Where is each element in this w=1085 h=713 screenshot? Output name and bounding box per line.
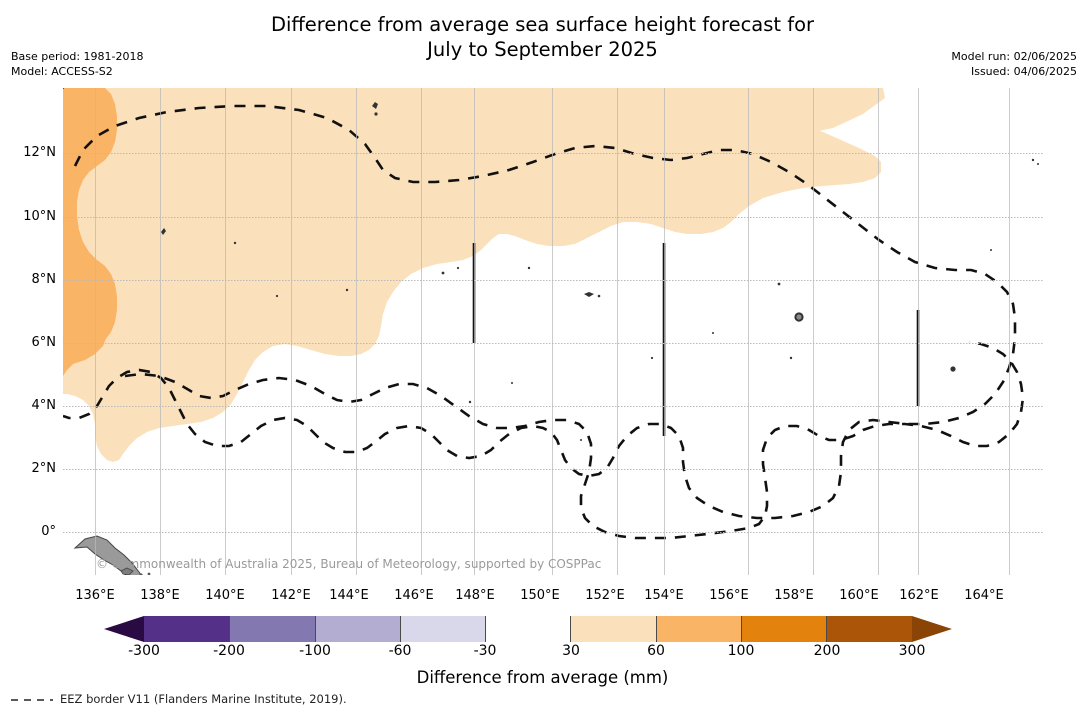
gridline-v-136e (95, 88, 96, 575)
x-tick-160e: 160°E (824, 588, 894, 603)
eez-border-line-south (125, 342, 1023, 538)
gridline-h-10n (63, 217, 1043, 218)
gridline-h-0 (63, 532, 1043, 533)
colorbar: -300 -200 -100 -60 -30 30 60 100 200 300 (104, 616, 952, 642)
base-period-text: Base period: 1981-2018 (11, 50, 143, 65)
gridline-v-156e (748, 88, 749, 575)
gridline-v-144e (356, 88, 357, 575)
gridline-v-160e (878, 88, 879, 575)
colorbar-seg-200-300 (826, 616, 911, 642)
x-tick-164e: 164°E (949, 588, 1019, 603)
gridline-h-12n (63, 153, 1043, 154)
x-tick-154e: 154°E (629, 588, 699, 603)
gridline-v-162e (918, 88, 919, 575)
colorbar-tick-30: 30 (536, 643, 606, 659)
eez-dash-icon (10, 694, 54, 705)
x-tick-152e: 152°E (570, 588, 640, 603)
model-text: Model: ACCESS-S2 (11, 65, 143, 80)
x-tick-136e: 136°E (60, 588, 130, 603)
issued-text: Issued: 04/06/2025 (951, 65, 1077, 80)
colorbar-tick--30: -30 (450, 643, 520, 659)
gridline-v-138e (160, 88, 161, 575)
colorbar-seg--200--100 (229, 616, 314, 642)
gridline-v-148e (474, 88, 475, 575)
colorbar-seg--100--60 (315, 616, 400, 642)
colorbar-seg--300--200 (144, 616, 229, 642)
gridline-v-150e (552, 88, 553, 575)
colorbar-tick--300: -300 (109, 643, 179, 659)
metadata-left: Base period: 1981-2018 Model: ACCESS-S2 (11, 50, 143, 79)
x-tick-142e: 142°E (256, 588, 326, 603)
x-tick-144e: 144°E (314, 588, 384, 603)
page-title: Difference from average sea surface heig… (0, 12, 1085, 62)
colorbar-tick--60: -60 (365, 643, 435, 659)
gridline-v-140e (225, 88, 226, 575)
y-tick-4n: 4°N (0, 398, 56, 413)
gridline-v-142e (291, 88, 292, 575)
gridline-v-158e (813, 88, 814, 575)
gridline-h-8n (63, 280, 1043, 281)
y-tick-2n: 2°N (0, 461, 56, 476)
eez-legend-label: EEZ border V11 (Flanders Marine Institut… (60, 692, 347, 706)
colorbar-tick-60: 60 (621, 643, 691, 659)
gridline-h-6n (63, 343, 1043, 344)
gridline-v-146e (421, 88, 422, 575)
chart-title-line2: July to September 2025 (0, 37, 1085, 62)
colorbar-seg-60-100 (656, 616, 741, 642)
colorbar-extend-high (912, 616, 952, 642)
y-tick-10n: 10°N (0, 209, 56, 224)
colorbar-seg-30-60 (570, 616, 655, 642)
colorbar-segments (144, 616, 912, 642)
x-tick-162e: 162°E (884, 588, 954, 603)
x-tick-146e: 146°E (379, 588, 449, 603)
colorbar-extend-low (104, 616, 144, 642)
y-tick-6n: 6°N (0, 335, 56, 350)
colorbar-tick-300: 300 (877, 643, 947, 659)
map-canvas (63, 88, 1043, 575)
colorbar-tick-100: 100 (706, 643, 776, 659)
gridline-h-4n (63, 406, 1043, 407)
colorbar-seg-100-200 (741, 616, 826, 642)
colorbar-title: Difference from average (mm) (0, 668, 1085, 687)
colorbar-tick--100: -100 (280, 643, 350, 659)
x-tick-156e: 156°E (694, 588, 764, 603)
gridline-v-152e (617, 88, 618, 575)
y-tick-0: 0° (0, 524, 56, 539)
map-plot-area (63, 88, 1043, 575)
gridline-h-2n (63, 469, 1043, 470)
gridline-v-164e (1009, 88, 1010, 575)
figure-root: Difference from average sea surface heig… (0, 0, 1085, 713)
y-tick-8n: 8°N (0, 272, 56, 287)
model-run-text: Model run: 02/06/2025 (951, 50, 1077, 65)
metadata-right: Model run: 02/06/2025 Issued: 04/06/2025 (951, 50, 1077, 79)
x-tick-138e: 138°E (125, 588, 195, 603)
x-tick-148e: 148°E (440, 588, 510, 603)
colorbar-tick--200: -200 (194, 643, 264, 659)
x-tick-158e: 158°E (759, 588, 829, 603)
gridline-v-154e (664, 88, 665, 575)
x-tick-150e: 150°E (505, 588, 575, 603)
colorbar-seg--30-30 (485, 616, 570, 642)
x-tick-140e: 140°E (190, 588, 260, 603)
copyright-text: © Commonwealth of Australia 2025, Bureau… (96, 557, 601, 571)
colorbar-tick-200: 200 (792, 643, 862, 659)
colorbar-seg--60--30 (400, 616, 485, 642)
chart-title-line1: Difference from average sea surface heig… (271, 13, 814, 36)
footer-legend: EEZ border V11 (Flanders Marine Institut… (10, 692, 347, 706)
y-tick-12n: 12°N (0, 145, 56, 160)
